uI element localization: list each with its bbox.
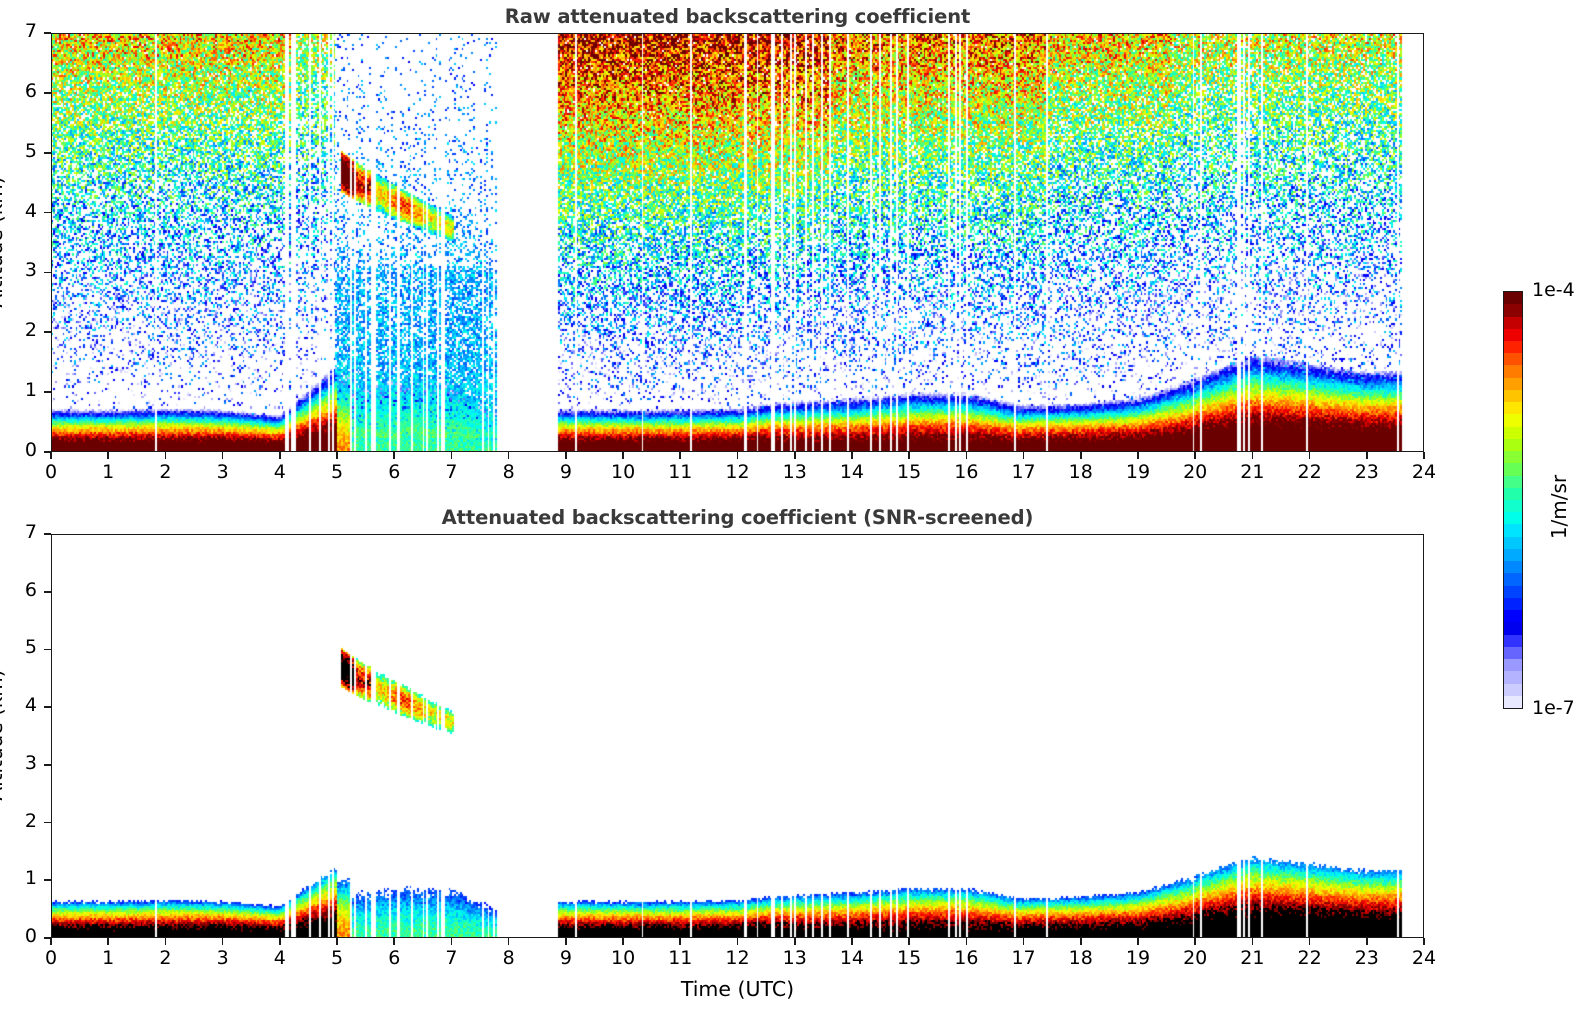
colorbar-segment (1504, 353, 1522, 365)
x-axis-tick (1252, 452, 1254, 459)
colorbar-segment (1504, 292, 1522, 304)
colorbar-segment (1504, 610, 1522, 622)
colorbar-gradient (1503, 291, 1523, 709)
y-axis-tick-label: 7 (0, 20, 37, 42)
x-axis-tick (222, 452, 224, 459)
colorbar-segment (1504, 378, 1522, 390)
x-axis-tick (1423, 938, 1425, 945)
x-axis-tick (1080, 938, 1082, 945)
x-axis-tick (451, 452, 453, 459)
x-axis-tick (565, 938, 567, 945)
y-axis-tick (44, 331, 51, 333)
x-axis-tick (622, 452, 624, 459)
colorbar-segment (1504, 622, 1522, 634)
y-axis-tick (44, 391, 51, 393)
colorbar-segment (1504, 671, 1522, 683)
colorbar-segment (1504, 329, 1522, 341)
x-axis-tick (622, 938, 624, 945)
y-axis-tick (44, 822, 51, 824)
x-axis-tick (279, 452, 281, 459)
x-axis-tick (279, 938, 281, 945)
x-axis-tick (1080, 452, 1082, 459)
x-axis-tick (794, 938, 796, 945)
colorbar-segment (1504, 696, 1522, 708)
x-axis-tick (794, 452, 796, 459)
x-axis-tick (107, 938, 109, 945)
colorbar-max-label: 1e-4 (1532, 279, 1575, 301)
y-axis-tick (44, 937, 51, 939)
panel-screened-plot-area[interactable] (51, 534, 1424, 938)
panel-screened-title: Attenuated backscattering coefficient (S… (51, 506, 1424, 529)
panel-raw-title: Raw attenuated backscattering coefficien… (51, 5, 1424, 28)
x-axis-tick (851, 452, 853, 459)
y-axis-tick (44, 32, 51, 34)
y-axis-tick (44, 272, 51, 274)
x-axis-tick (1194, 938, 1196, 945)
x-axis-tick (679, 452, 681, 459)
y-axis-tick (44, 533, 51, 535)
lidar-quicklook-figure: Raw attenuated backscattering coefficien… (0, 0, 1595, 1020)
colorbar-segment (1504, 451, 1522, 463)
panel-screened-y-axis-label: Altitude (km) (0, 585, 7, 885)
x-axis-tick (851, 938, 853, 945)
x-axis-tick (565, 452, 567, 459)
x-axis-tick (737, 452, 739, 459)
panel-screened-heatmap (52, 535, 1424, 938)
y-axis-tick (44, 152, 51, 154)
colorbar-segment (1504, 463, 1522, 475)
colorbar-segment (1504, 586, 1522, 598)
x-axis-tick (737, 938, 739, 945)
colorbar-segment (1504, 659, 1522, 671)
x-axis-tick (1137, 938, 1139, 945)
panel-screened-x-axis-label: Time (UTC) (51, 977, 1424, 1001)
colorbar-min-label: 1e-7 (1532, 697, 1575, 719)
x-axis-tick (1423, 452, 1425, 459)
y-axis-tick (44, 591, 51, 593)
colorbar-segment (1504, 402, 1522, 414)
x-axis-tick (679, 938, 681, 945)
y-axis-tick-label: 0 (0, 925, 37, 947)
x-axis-tick-label: 24 (1384, 461, 1464, 483)
x-axis-tick (1366, 938, 1368, 945)
y-axis-tick (44, 212, 51, 214)
y-axis-tick (44, 649, 51, 651)
x-axis-tick (1023, 452, 1025, 459)
colorbar-segment (1504, 500, 1522, 512)
x-axis-tick (1309, 938, 1311, 945)
x-axis-tick (1194, 452, 1196, 459)
x-axis-tick (1366, 452, 1368, 459)
x-axis-tick (1137, 452, 1139, 459)
colorbar-segment (1504, 684, 1522, 696)
x-axis-tick (222, 938, 224, 945)
panel-raw-y-axis-label: Altitude (km) (0, 92, 7, 392)
x-axis-tick (336, 452, 338, 459)
x-axis-tick (1023, 938, 1025, 945)
y-axis-tick (44, 706, 51, 708)
x-axis-tick (908, 938, 910, 945)
colorbar-segment (1504, 573, 1522, 585)
x-axis-tick (393, 938, 395, 945)
colorbar-segment (1504, 439, 1522, 451)
y-axis-tick-label: 7 (0, 521, 37, 543)
x-axis-tick (107, 452, 109, 459)
colorbar-segment (1504, 549, 1522, 561)
colorbar-segment (1504, 561, 1522, 573)
x-axis-tick (508, 452, 510, 459)
x-axis-tick (966, 452, 968, 459)
x-axis-tick (50, 938, 52, 945)
x-axis-tick (1309, 452, 1311, 459)
colorbar-segment (1504, 524, 1522, 536)
y-axis-tick-label: 0 (0, 439, 37, 461)
x-axis-tick-label: 24 (1384, 947, 1464, 969)
colorbar-segment (1504, 427, 1522, 439)
colorbar-segment (1504, 537, 1522, 549)
colorbar-segment (1504, 304, 1522, 316)
y-axis-tick (44, 451, 51, 453)
colorbar-segment (1504, 635, 1522, 647)
x-axis-tick (908, 452, 910, 459)
colorbar-segment (1504, 598, 1522, 610)
colorbar-segment (1504, 414, 1522, 426)
colorbar-segment (1504, 365, 1522, 377)
x-axis-tick (451, 938, 453, 945)
colorbar-segment (1504, 476, 1522, 488)
x-axis-tick (393, 452, 395, 459)
x-axis-tick (165, 938, 167, 945)
colorbar-segment (1504, 512, 1522, 524)
panel-raw-plot-area[interactable] (51, 33, 1424, 452)
y-axis-tick (44, 879, 51, 881)
colorbar-segment (1504, 390, 1522, 402)
y-axis-tick (44, 764, 51, 766)
colorbar-segment (1504, 341, 1522, 353)
x-axis-tick (508, 938, 510, 945)
x-axis-tick (165, 452, 167, 459)
colorbar-segment (1504, 647, 1522, 659)
panel-raw-heatmap (52, 34, 1424, 452)
x-axis-tick (336, 938, 338, 945)
x-axis-tick (966, 938, 968, 945)
x-axis-tick (50, 452, 52, 459)
colorbar-title: 1/m/sr (1547, 447, 1571, 567)
x-axis-tick (1252, 938, 1254, 945)
y-axis-tick (44, 92, 51, 94)
colorbar-segment (1504, 488, 1522, 500)
colorbar-segment (1504, 317, 1522, 329)
